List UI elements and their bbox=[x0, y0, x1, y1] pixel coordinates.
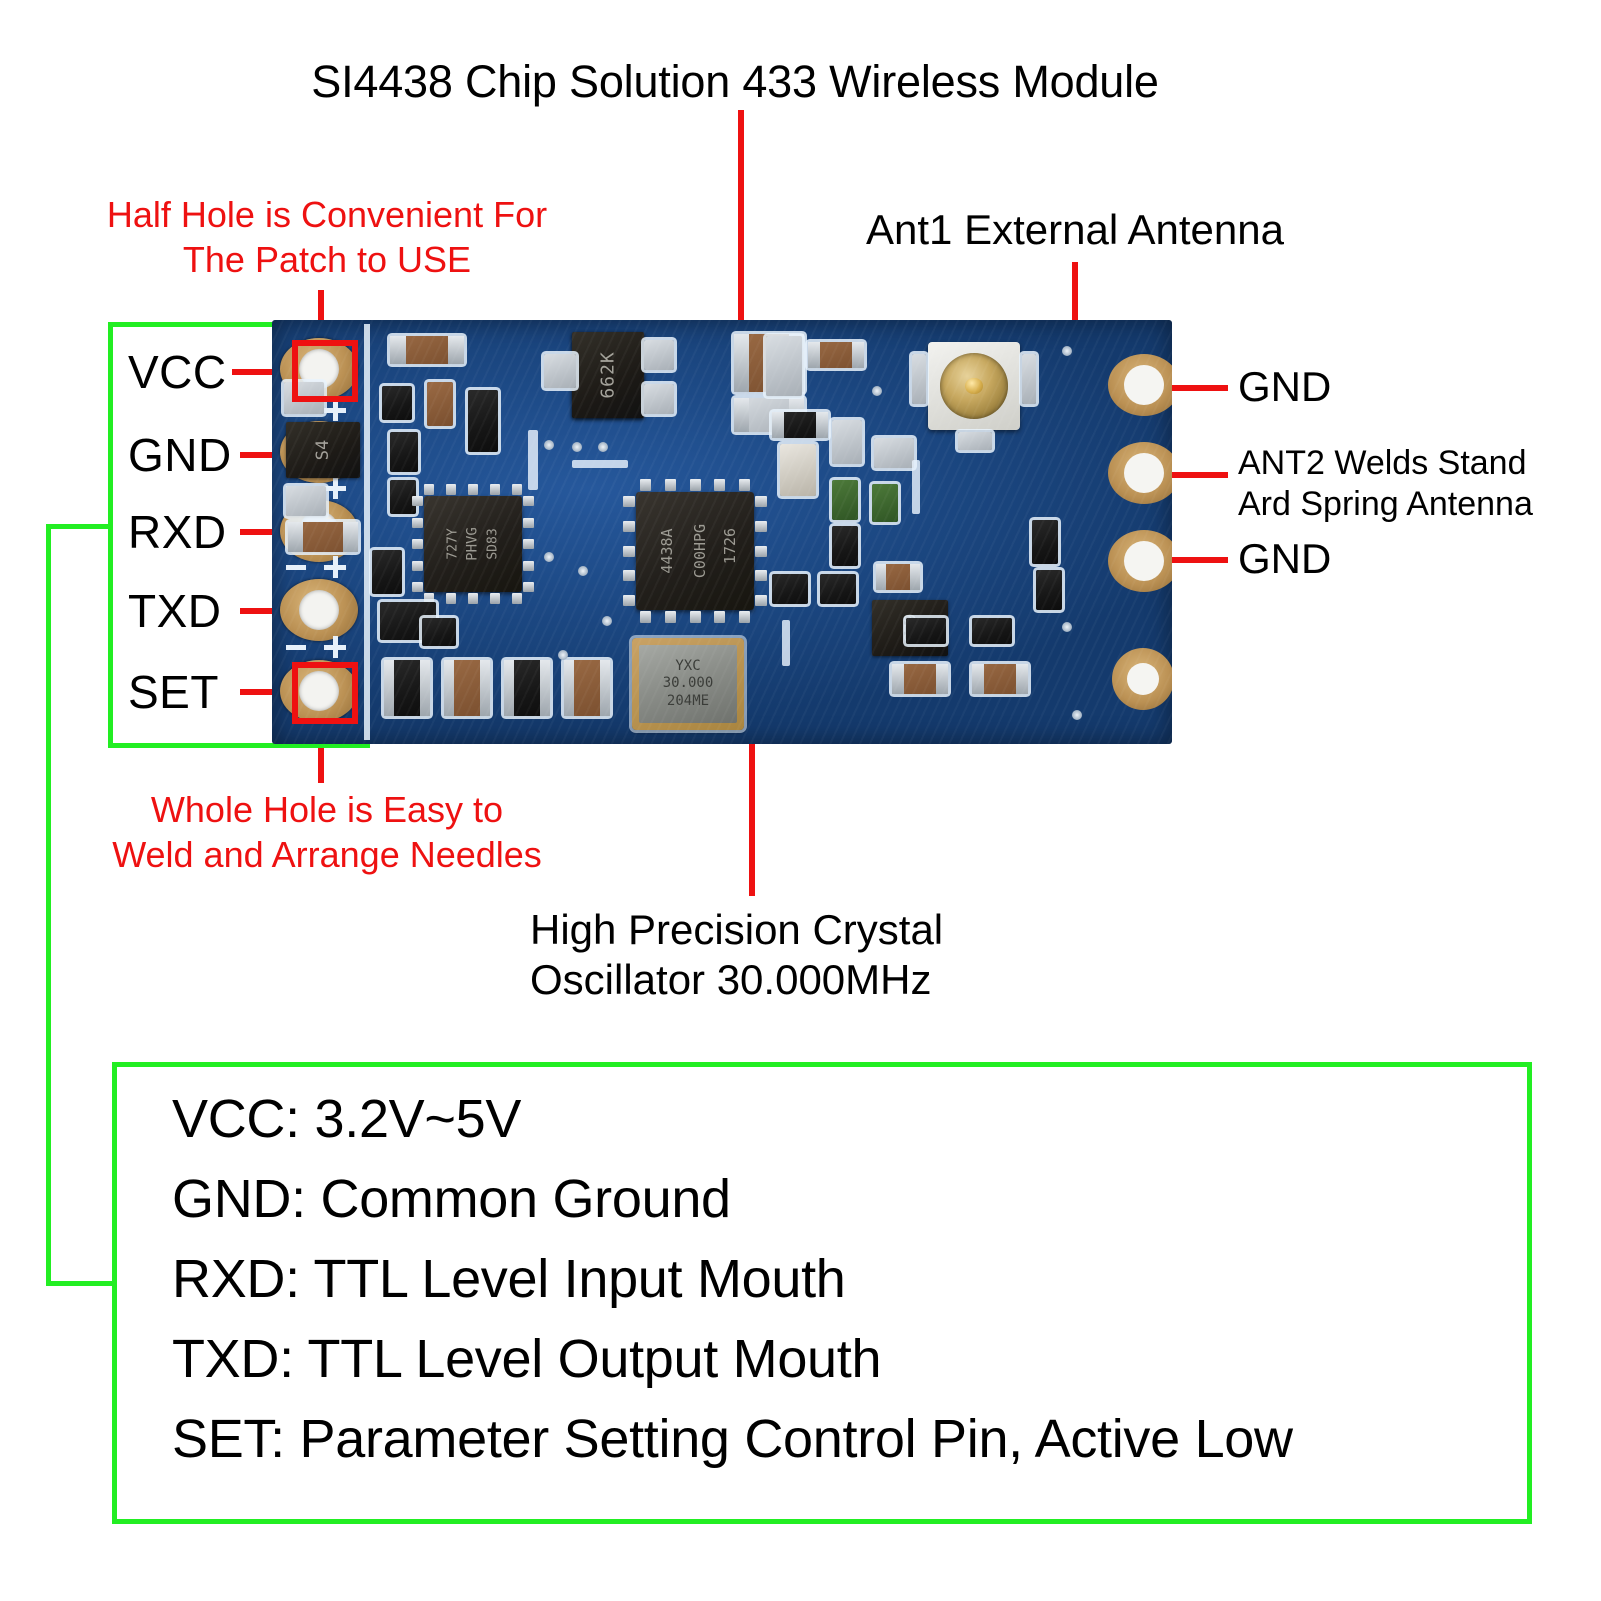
ufl-antenna-connector bbox=[928, 342, 1020, 430]
callout-whole-hole: Whole Hole is Easy to Weld and Arrange N… bbox=[62, 787, 592, 877]
pin-label-txd: TXD bbox=[128, 584, 222, 638]
legend-item-rxd: RXD: TTL Level Input Mouth bbox=[172, 1252, 846, 1306]
green-connector-bottom bbox=[46, 1281, 114, 1286]
pad-gnd-bottom-right bbox=[1108, 530, 1172, 592]
ic-regulator-marking: 662K bbox=[598, 351, 619, 398]
ic-si4438-marking-2: C00HPG bbox=[691, 524, 709, 578]
ic-diode: S4 bbox=[286, 422, 360, 478]
gnd-top-leader-line bbox=[1164, 385, 1228, 391]
ic-mcu-marking: PHVG bbox=[464, 527, 483, 561]
crystal-marking-2: 30.000 bbox=[663, 675, 714, 693]
green-connector-top bbox=[46, 524, 110, 529]
legend-item-txd: TXD: TTL Level Output Mouth bbox=[172, 1332, 881, 1386]
legend-item-vcc: VCC: 3.2V~5V bbox=[172, 1092, 521, 1146]
legend-item-gnd: GND: Common Ground bbox=[172, 1172, 731, 1226]
diagram-title: SI4438 Chip Solution 433 Wireless Module bbox=[300, 55, 1170, 108]
callout-ant2: ANT2 Welds Stand Ard Spring Antenna bbox=[1238, 443, 1583, 526]
crystal-oscillator: YXC 30.000 204ME bbox=[632, 638, 744, 730]
half-hole-highlight bbox=[292, 340, 358, 402]
ic-si4438-marking-3: 1726 bbox=[721, 528, 739, 564]
ic-mcu-marking-2: 727Y bbox=[446, 528, 461, 559]
pin-label-gnd: GND bbox=[128, 428, 232, 482]
ic-mcu-marking-3: SD83 bbox=[485, 528, 500, 559]
pin-label-rxd: RXD bbox=[128, 505, 227, 559]
green-connector-vertical bbox=[46, 524, 51, 1286]
callout-gnd-top: GND bbox=[1238, 362, 1331, 412]
callout-crystal: High Precision Crystal Oscillator 30.000… bbox=[530, 905, 1090, 1004]
ic-si4438: 4438A C00HPG 1726 bbox=[636, 492, 754, 610]
ic-diode-marking: S4 bbox=[313, 440, 333, 460]
crystal-marking-1: YXC bbox=[675, 658, 700, 676]
pad-gnd-top-right bbox=[1108, 354, 1172, 416]
callout-ant1: Ant1 External Antenna bbox=[830, 205, 1320, 255]
callout-half-hole: Half Hole is Convenient For The Patch to… bbox=[62, 192, 592, 282]
legend-item-set: SET: Parameter Setting Control Pin, Acti… bbox=[172, 1412, 1293, 1466]
pin-label-set: SET bbox=[128, 665, 219, 719]
pcb-board-image: 662K S4 PHVG 727Y SD83 bbox=[272, 320, 1172, 744]
crystal-leader-line bbox=[749, 731, 755, 896]
ic-si4438-marking-1: 4438A bbox=[658, 528, 676, 573]
ic-mcu: PHVG 727Y SD83 bbox=[424, 496, 522, 592]
pad-txd bbox=[280, 579, 358, 641]
crystal-marking-3: 204ME bbox=[667, 693, 709, 711]
ant2-leader-line bbox=[1164, 472, 1228, 478]
callout-gnd-bottom: GND bbox=[1238, 534, 1331, 584]
pin-label-vcc: VCC bbox=[128, 345, 227, 399]
whole-hole-highlight bbox=[292, 662, 358, 724]
pad-ant2 bbox=[1108, 442, 1172, 504]
diagram-canvas: SI4438 Chip Solution 433 Wireless Module… bbox=[0, 0, 1601, 1601]
mounting-hole bbox=[1112, 648, 1172, 710]
gnd-bottom-leader-line bbox=[1164, 557, 1228, 563]
ic-regulator: 662K bbox=[572, 332, 644, 418]
